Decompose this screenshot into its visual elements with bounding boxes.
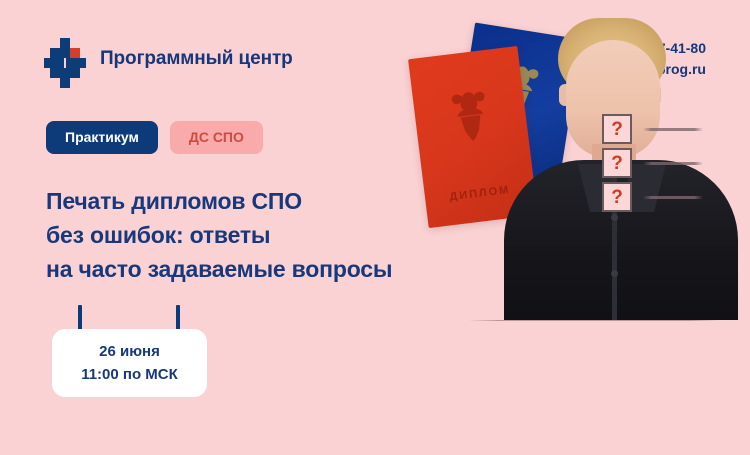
question-mark-icon: ? [602, 114, 632, 144]
faq-answer-line [643, 196, 703, 199]
double-eagle-emblem-icon [439, 83, 502, 151]
faq-list: ? ? ? [602, 112, 714, 214]
faq-item: ? [602, 146, 714, 180]
question-mark-icon: ? [602, 182, 632, 212]
faq-answer-line [643, 128, 703, 131]
headline-line-2: без ошибок: ответы [46, 218, 392, 252]
faq-item: ? [602, 180, 714, 214]
page-title: Печать дипломов СПО без ошибок: ответы н… [46, 184, 392, 286]
badge-ds-spo: ДС СПО [170, 121, 263, 154]
brand-name: Программный центр [100, 48, 293, 70]
presenter-shirt-button [611, 270, 618, 277]
event-date-card: 26 июня 11:00 по МСК [52, 305, 207, 397]
brand-logo[interactable]: Программный центр [44, 38, 293, 80]
diamond-grid-logo-icon [44, 38, 86, 80]
event-time: 11:00 по МСК [81, 365, 178, 385]
presenter-shirt-button [611, 214, 618, 221]
faq-item: ? [602, 112, 714, 146]
headline-line-1: Печать дипломов СПО [46, 184, 392, 218]
webinar-banner: Программный центр 8 (800) 707-41-80 pbpr… [0, 0, 750, 455]
question-mark-icon: ? [602, 148, 632, 178]
faq-answer-line [643, 162, 703, 165]
badge-group: Практикум ДС СПО [46, 121, 263, 154]
photo-baseline-divider [468, 320, 720, 321]
headline-line-3: на часто задаваемые вопросы [46, 252, 392, 286]
event-date: 26 июня [99, 342, 160, 362]
badge-praktikum: Практикум [46, 121, 158, 154]
event-date-card-body: 26 июня 11:00 по МСК [52, 329, 207, 397]
